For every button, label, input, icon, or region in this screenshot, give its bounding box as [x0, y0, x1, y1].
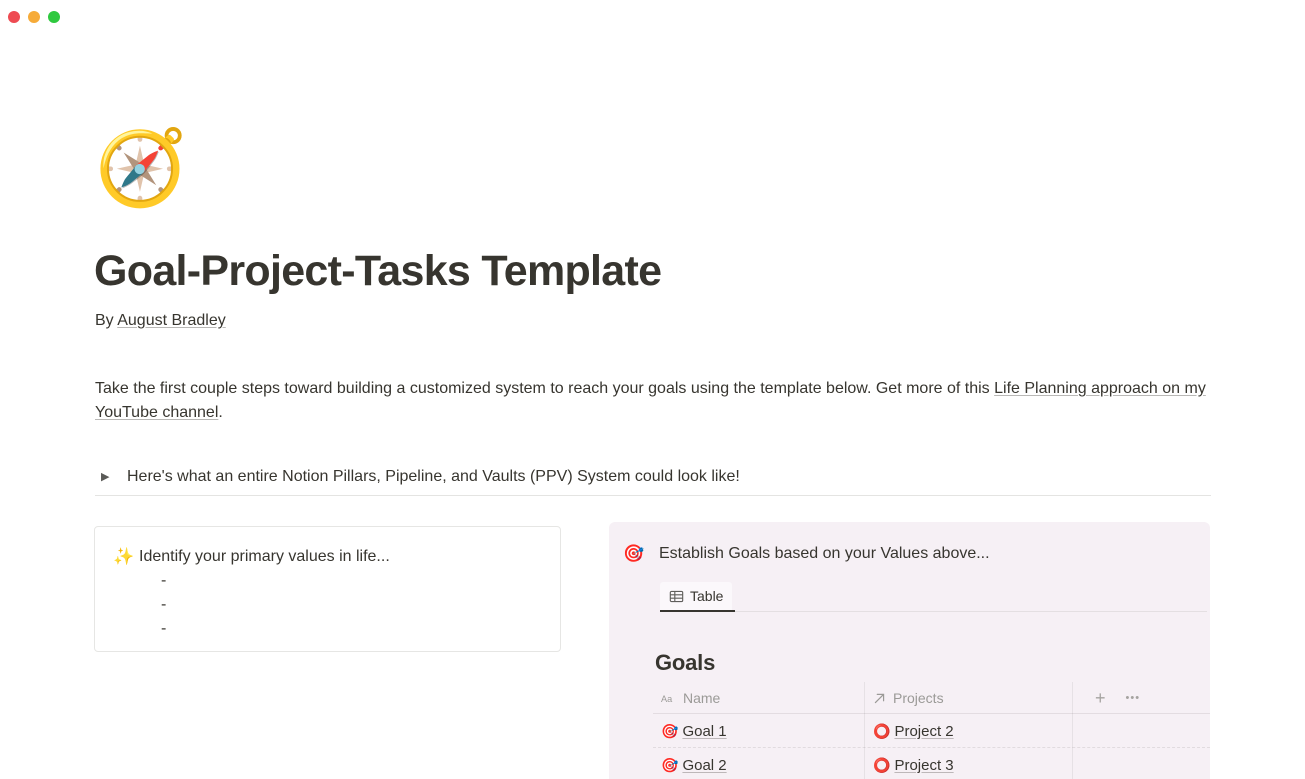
window-title-bar: [0, 0, 1305, 36]
close-window-button[interactable]: [8, 11, 20, 23]
value-line[interactable]: -: [161, 593, 544, 617]
cell-project-link[interactable]: Project 3: [894, 757, 953, 774]
page-byline: By August Bradley: [95, 312, 226, 330]
database-title[interactable]: Goals: [655, 650, 715, 676]
goals-callout-header: 🎯 Establish Goals based on your Values a…: [623, 542, 990, 566]
compass-emoji[interactable]: 🧭: [95, 126, 179, 210]
values-list: - - -: [113, 569, 544, 641]
cell-name-link[interactable]: Goal 1: [682, 723, 726, 740]
tab-active-underline: [660, 610, 735, 612]
sparkles-emoji: ✨: [113, 545, 139, 569]
red-circle-emoji: ⭕: [873, 724, 890, 738]
cell-name[interactable]: 🎯 Goal 1: [653, 714, 865, 748]
values-callout-card[interactable]: ✨ Identify your primary values in life..…: [94, 526, 561, 652]
column-header-projects-label: Projects: [893, 690, 944, 706]
goals-callout-text: Establish Goals based on your Values abo…: [659, 542, 990, 566]
cell-name[interactable]: 🎯 Goal 2: [653, 748, 865, 779]
target-emoji: 🎯: [661, 724, 678, 738]
table-header-actions: + •••: [1073, 682, 1210, 714]
relation-arrow-icon: [873, 692, 886, 705]
cell-empty[interactable]: [1073, 714, 1210, 748]
goals-callout-panel: 🎯 Establish Goals based on your Values a…: [609, 522, 1210, 779]
cell-name-link[interactable]: Goal 2: [682, 757, 726, 774]
cell-empty[interactable]: [1073, 748, 1210, 779]
toggle-block[interactable]: ▶ Here's what an entire Notion Pillars, …: [95, 463, 1211, 491]
tab-table[interactable]: Table: [660, 582, 732, 610]
cell-projects[interactable]: ⭕ Project 2: [865, 714, 1073, 748]
value-line[interactable]: -: [161, 617, 544, 641]
column-header-projects[interactable]: Projects: [865, 682, 1073, 714]
cell-project-link[interactable]: Project 2: [894, 723, 953, 740]
maximize-window-button[interactable]: [48, 11, 60, 23]
page-title: Goal-Project-Tasks Template: [94, 247, 661, 296]
table-icon: [669, 589, 684, 604]
add-column-button[interactable]: +: [1095, 689, 1106, 707]
table-row[interactable]: 🎯 Goal 1 ⭕ Project 2: [653, 714, 1210, 748]
tabs-baseline-divider: [735, 611, 1207, 612]
intro-text-before: Take the first couple steps toward build…: [95, 380, 994, 397]
svg-text:Aa: Aa: [661, 693, 673, 703]
toggle-label: Here's what an entire Notion Pillars, Pi…: [127, 465, 740, 489]
horizontal-divider: [95, 495, 1211, 496]
intro-paragraph: Take the first couple steps toward build…: [95, 377, 1211, 425]
notion-page: 🧭 Goal-Project-Tasks Template By August …: [0, 36, 1305, 779]
intro-text-after: .: [218, 404, 222, 421]
table-header-row: Aa Name Projects + •••: [653, 682, 1210, 714]
target-emoji: 🎯: [661, 758, 678, 772]
author-link[interactable]: August Bradley: [117, 312, 226, 329]
column-header-name-label: Name: [683, 690, 720, 706]
target-emoji: 🎯: [623, 542, 659, 566]
cell-projects[interactable]: ⭕ Project 3: [865, 748, 1073, 779]
column-header-name[interactable]: Aa Name: [653, 682, 865, 714]
table-row[interactable]: 🎯 Goal 2 ⭕ Project 3: [653, 748, 1210, 779]
tab-table-label: Table: [690, 588, 723, 604]
values-callout-header: ✨ Identify your primary values in life..…: [113, 545, 544, 569]
chevron-right-icon[interactable]: ▶: [101, 472, 121, 483]
title-aa-icon: Aa: [661, 693, 676, 704]
traffic-light-buttons: [8, 11, 60, 23]
value-line[interactable]: -: [161, 569, 544, 593]
goals-table: Aa Name Projects + •••: [653, 682, 1210, 779]
values-callout-title: Identify your primary values in life...: [139, 545, 390, 569]
red-circle-emoji: ⭕: [873, 758, 890, 772]
table-more-options-button[interactable]: •••: [1126, 692, 1141, 704]
minimize-window-button[interactable]: [28, 11, 40, 23]
database-view-tabs: Table: [660, 582, 1210, 612]
byline-prefix: By: [95, 312, 117, 329]
